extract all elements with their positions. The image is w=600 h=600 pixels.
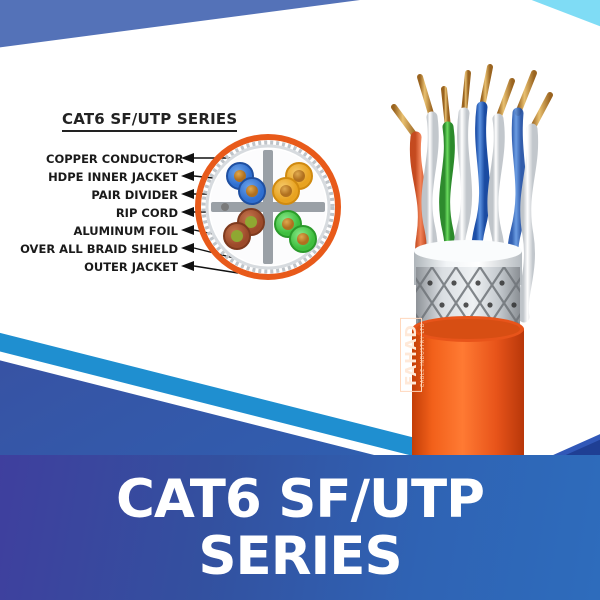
cable-brand-label: FAHAD CABLE INDUSTRY LTD xyxy=(400,355,466,381)
product-graphic: FAHAD CABLE INDUSTRY LTD CAT6 SF/UTP SER… xyxy=(0,0,600,600)
cable-cross-section xyxy=(193,132,343,282)
cross-section-diagram: CAT6 SF/UTP SERIES COPPER CONDUCTOR HDPE… xyxy=(0,90,360,310)
cable-illustration: FAHAD CABLE INDUSTRY LTD xyxy=(372,55,582,465)
decorative-band-top-left xyxy=(0,0,600,53)
brand-name: FAHAD xyxy=(400,318,422,392)
rip-cord xyxy=(221,203,229,211)
title-banner: CAT6 SF/UTP SERIES xyxy=(0,455,600,600)
brand-subtitle: CABLE INDUSTRY LTD xyxy=(420,323,426,387)
cable-svg xyxy=(372,55,582,465)
outer-jacket xyxy=(412,316,524,461)
product-title-line1: CAT6 SF/UTP xyxy=(116,473,484,526)
product-title-line2: SERIES xyxy=(198,530,401,583)
copper-conductor-tips xyxy=(394,67,550,137)
